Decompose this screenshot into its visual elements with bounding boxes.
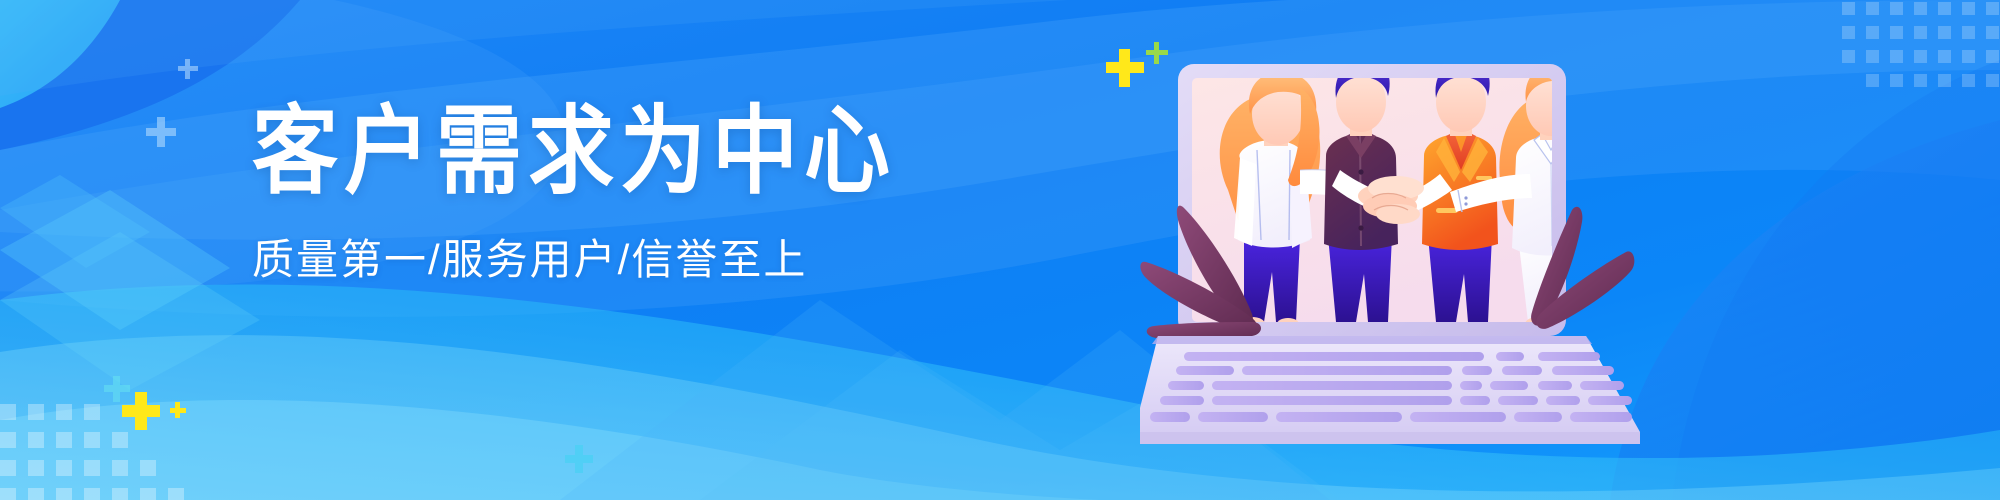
plus-yellow-tiny-icon [170, 402, 186, 418]
laptop-team-illustration [1140, 40, 1660, 460]
plus-pale-top-icon [178, 59, 198, 79]
plus-yellow-bottom-icon [122, 392, 160, 430]
plus-pale-top2-icon [146, 117, 176, 147]
page-subtitle: 质量第一/服务用户/信誉至上 [252, 226, 892, 287]
page-title: 客户需求为中心 [252, 104, 892, 202]
headline-block: 客户需求为中心 质量第一/服务用户/信誉至上 [252, 104, 892, 287]
plus-cyan-bottom-icon [104, 376, 130, 402]
plus-yellow-large-icon [1106, 49, 1144, 87]
promo-banner: 客户需求为中心 质量第一/服务用户/信誉至上 [0, 0, 2000, 500]
laptop-base [1140, 336, 1640, 444]
plus-cyan-mid-icon [565, 445, 593, 473]
